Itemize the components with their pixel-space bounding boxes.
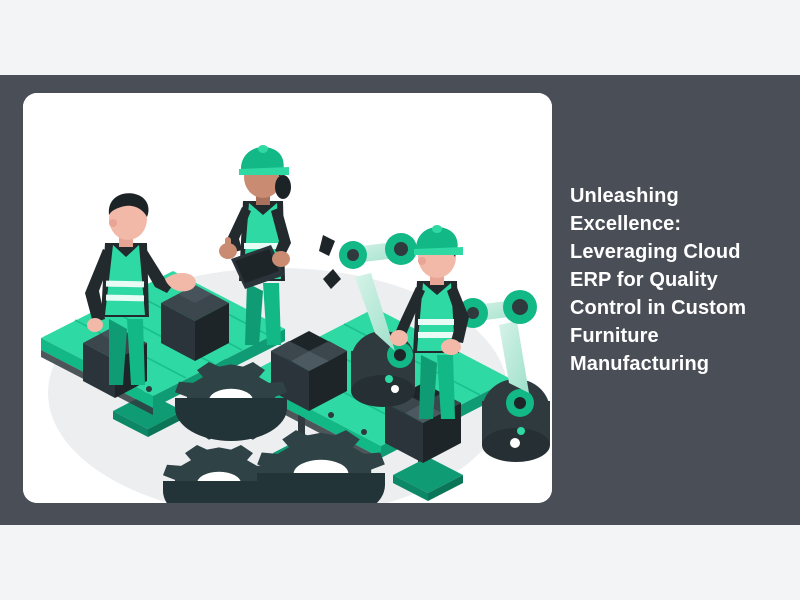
- illustration-card: [23, 93, 552, 503]
- page-title: Unleashing Excellence: Leveraging Cloud …: [570, 182, 775, 378]
- isometric-factory-automation-scene: [23, 93, 552, 503]
- article-title-block: Unleashing Excellence: Leveraging Cloud …: [570, 182, 775, 378]
- page-root: Unleashing Excellence: Leveraging Cloud …: [0, 0, 800, 600]
